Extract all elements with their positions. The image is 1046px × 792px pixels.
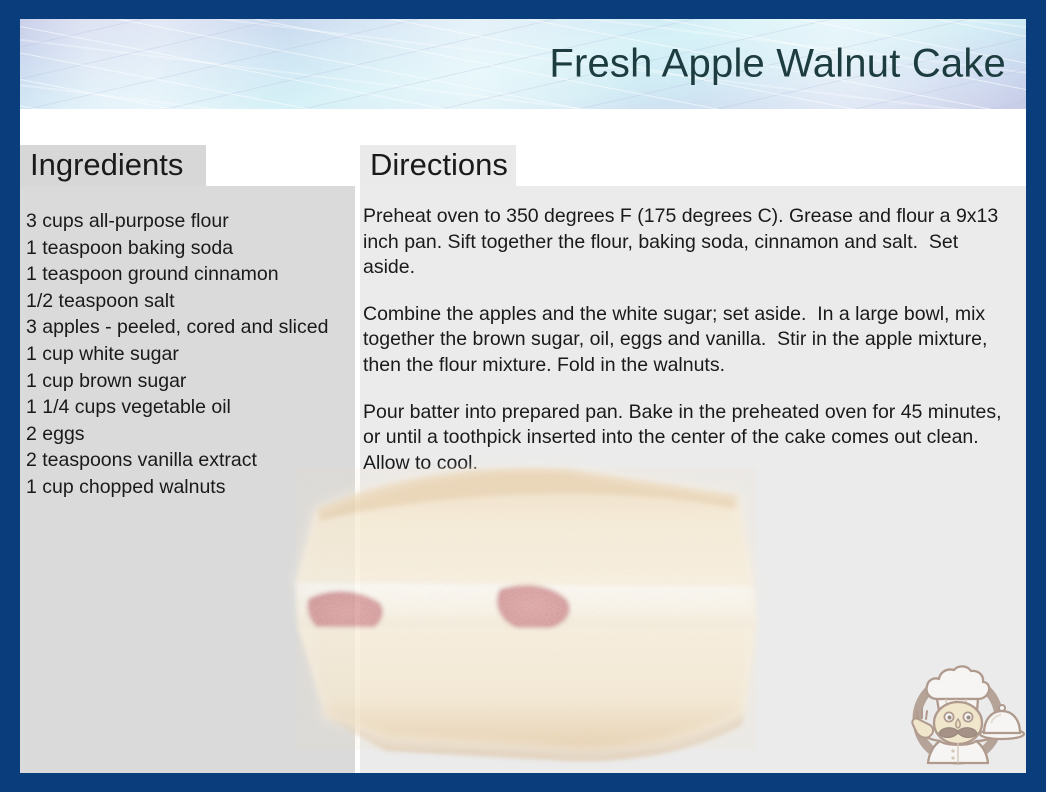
ingredients-heading: Ingredients [30,147,183,183]
ingredient-item: 1 cup white sugar [26,341,346,368]
ingredient-item: 3 apples - peeled, cored and sliced [26,314,346,341]
ingredients-list: 3 cups all-purpose flour1 teaspoon bakin… [26,208,346,501]
ingredient-item: 1/2 teaspoon salt [26,288,346,315]
ingredient-item: 2 eggs [26,421,346,448]
card-inner: Fresh Apple Walnut Cake Ingredients 3 cu… [20,19,1026,773]
direction-paragraph: Pour batter into prepared pan. Bake in t… [363,400,1015,477]
ingredient-item: 1 teaspoon baking soda [26,235,346,262]
directions-heading: Directions [370,147,508,183]
page-title: Fresh Apple Walnut Cake [549,42,1006,87]
ingredient-item: 1 1/4 cups vegetable oil [26,394,346,421]
recipe-card: Fresh Apple Walnut Cake Ingredients 3 cu… [0,0,1046,792]
directions-body: Preheat oven to 350 degrees F (175 degre… [363,204,1015,497]
ingredient-item: 1 cup chopped walnuts [26,474,346,501]
ingredient-item: 2 teaspoons vanilla extract [26,447,346,474]
ingredient-item: 1 cup brown sugar [26,368,346,395]
direction-paragraph: Preheat oven to 350 degrees F (175 degre… [363,204,1015,281]
ingredient-item: 1 teaspoon ground cinnamon [26,261,346,288]
header-banner: Fresh Apple Walnut Cake [20,19,1026,109]
ingredient-item: 3 cups all-purpose flour [26,208,346,235]
direction-paragraph: Combine the apples and the white sugar; … [363,302,1015,379]
